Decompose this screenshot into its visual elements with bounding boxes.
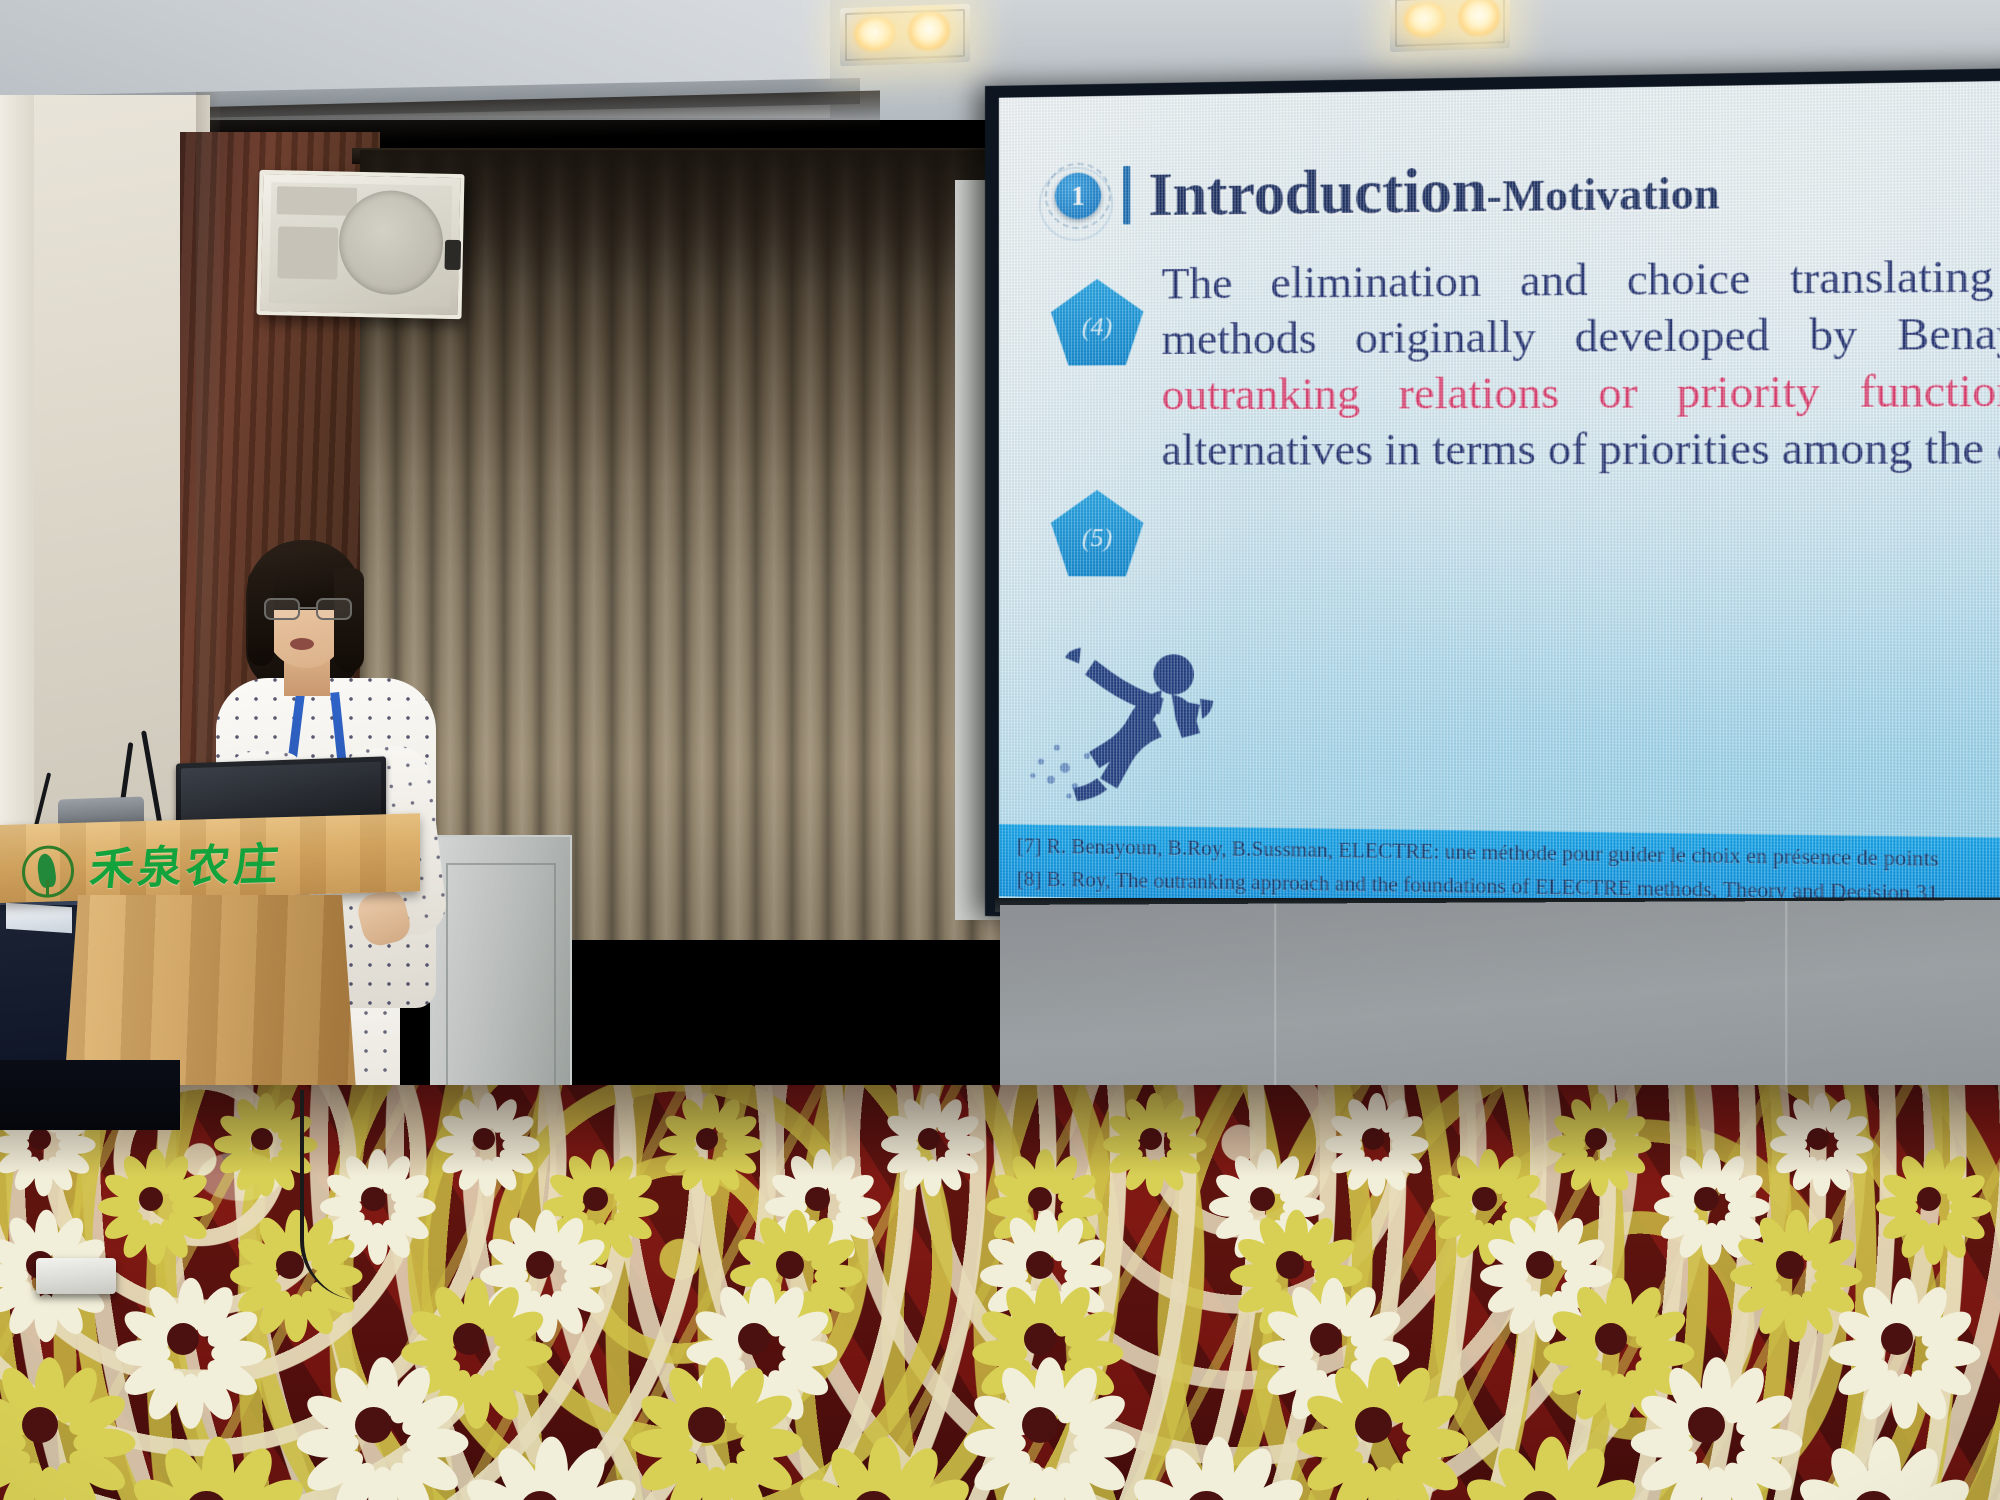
slide-body-line-3: outranking relations or priority functio… — [1162, 362, 2000, 422]
presenter-hair-side-right — [334, 568, 364, 672]
pentagon-marker-4: (4) — [1051, 279, 1143, 366]
left-wall-strip — [0, 95, 34, 885]
power-strip-on-floor — [36, 1258, 116, 1294]
recessed-spotlight-left — [840, 4, 970, 67]
slide-body: (4) (5) The elimination and choice trans… — [1043, 247, 2000, 579]
running-athlete-icon — [1021, 627, 1273, 805]
wall-speaker — [257, 170, 465, 319]
farm-leaf-logo-icon — [22, 845, 74, 898]
podium-sign-text: 禾泉农庄 — [88, 843, 285, 892]
slide-body-line-1: The elimination and choice translating — [1162, 247, 2000, 311]
glasses-icon — [264, 598, 352, 620]
pentagon-marker-5: (5) — [1051, 490, 1143, 577]
recessed-spotlight-right — [1390, 0, 1510, 52]
floor-shadow-left — [0, 1060, 180, 1130]
led-screen-frame: 1 Introduction-Motivation (4) (5) The el… — [985, 68, 2000, 935]
conference-room-photo: 1 Introduction-Motivation (4) (5) The el… — [0, 0, 2000, 1500]
slide-body-line-2: methods originally developed by Benayo — [1162, 304, 2000, 366]
slide-body-line-4: alternatives in terms of priorities amon… — [1162, 419, 2000, 477]
section-number-badge: 1 — [1043, 160, 1113, 231]
paper-on-table — [6, 903, 72, 934]
speaker-knob — [444, 240, 461, 270]
podium-sign: 禾泉农庄 — [22, 831, 402, 904]
slide-title-separator: - — [1487, 171, 1502, 221]
presentation-slide: 1 Introduction-Motivation (4) (5) The el… — [999, 80, 2000, 924]
speaker-port — [277, 226, 338, 279]
slide-title-row: 1 Introduction-Motivation — [1043, 138, 2000, 239]
slide-title-main: Introduction — [1148, 156, 1486, 229]
presenter-mouth — [290, 638, 314, 650]
title-divider-bar — [1123, 166, 1130, 224]
slide-title-sub: Motivation — [1502, 168, 1720, 221]
slide-paragraph: The elimination and choice translating m… — [1162, 247, 2000, 579]
pentagon-marker-column: (4) (5) — [1043, 256, 1162, 576]
speaker-tweeter — [277, 186, 358, 216]
floor-cable — [300, 1090, 360, 1300]
